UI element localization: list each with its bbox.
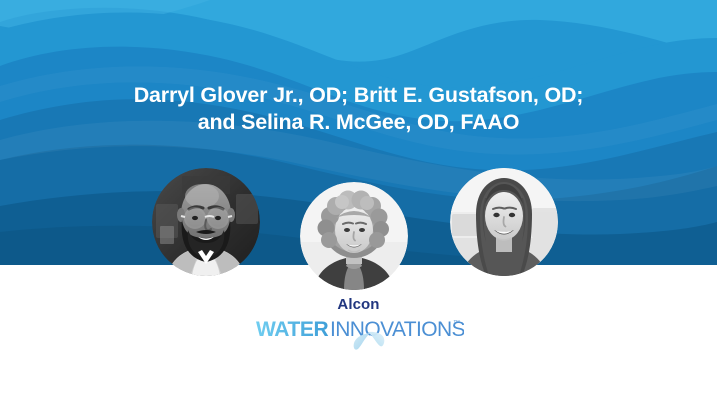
portrait-britt-gustafson: [300, 182, 408, 290]
headline-line-1: Darryl Glover Jr., OD; Britt E. Gustafso…: [134, 83, 584, 107]
portrait-selina-mcgee: [450, 168, 558, 276]
alcon-water-innovations-logo: Alcon WA: [0, 296, 717, 360]
water-innovations-lockup: WATER INNOVATIONS ™: [0, 316, 717, 360]
logo-word-innovations: INNOVATIONS: [330, 318, 464, 341]
headline-line-2: and Selina R. McGee, OD, FAAO: [0, 109, 717, 136]
trademark-symbol: ™: [453, 320, 460, 327]
alcon-brand-wordmark: Alcon: [0, 296, 717, 314]
portrait-darryl-glover-image: [152, 168, 260, 276]
portrait-britt-gustafson-image: [300, 182, 408, 290]
portrait-darryl-glover: [152, 168, 260, 276]
water-innovations-graphic: WATER INNOVATIONS ™: [254, 316, 464, 360]
page-title: Darryl Glover Jr., OD; Britt E. Gustafso…: [0, 82, 717, 136]
portrait-row: [0, 0, 717, 290]
slide-root: Darryl Glover Jr., OD; Britt E. Gustafso…: [0, 0, 717, 405]
logo-word-water: WATER: [256, 318, 329, 341]
portrait-selina-mcgee-image: [450, 168, 558, 276]
